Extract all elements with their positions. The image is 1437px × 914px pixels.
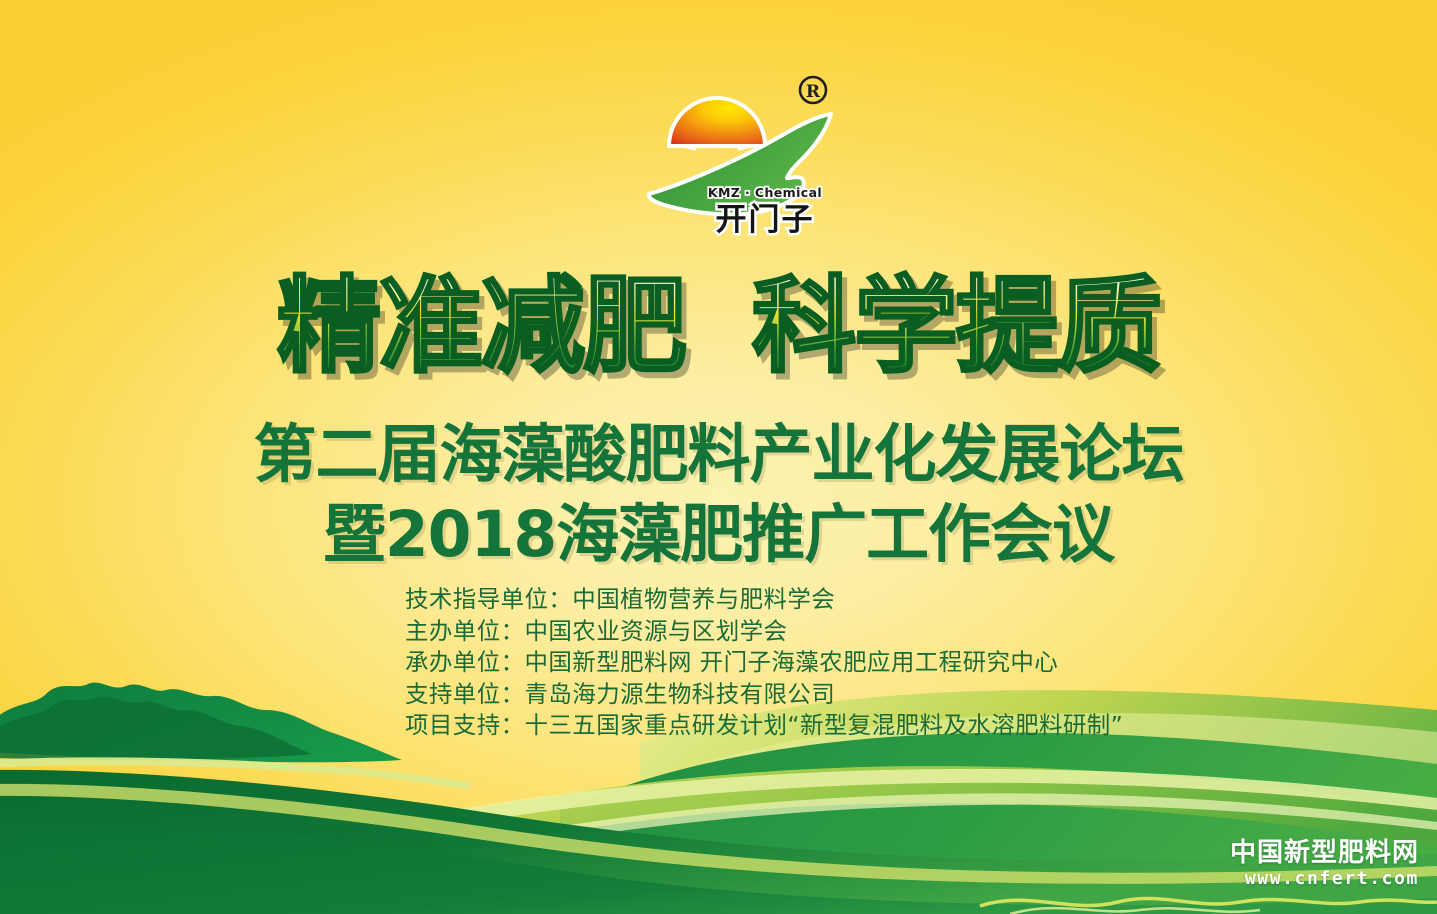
organizer-info-block: 技术指导单位：中国植物营养与肥料学会 主办单位：中国农业资源与区划学会 承办单位…: [405, 584, 1123, 742]
watermark-url: www.cnfert.com: [1230, 868, 1419, 891]
subtitle-line-2: 暨2018海藻肥推广工作会议: [0, 484, 1437, 575]
site-watermark: 中国新型肥料网 www.cnfert.com: [1230, 839, 1419, 890]
subtitle-line-1: 第二届海藻酸肥料产业化发展论坛: [0, 404, 1437, 495]
info-line-technical-guidance: 技术指导单位：中国植物营养与肥料学会: [405, 584, 1123, 616]
info-line-organizer: 承办单位：中国新型肥料网 开门子海藻农肥应用工程研究中心: [405, 647, 1123, 679]
info-line-supporter: 支持单位：青岛海力源生物科技有限公司: [405, 679, 1123, 711]
registered-trademark-icon: R: [800, 77, 826, 103]
conference-poster: R KMZ · Chemical 开门子 精准减肥 科学提质 第二届海藻酸肥料产…: [0, 0, 1437, 914]
watermark-site-name: 中国新型肥料网: [1230, 839, 1419, 868]
logo-brand-en: KMZ · Chemical: [708, 185, 822, 200]
sun-dome-icon: [669, 98, 765, 146]
logo-brand-cn: 开门子: [716, 202, 815, 238]
svg-text:R: R: [806, 82, 821, 102]
kmz-brand-logo: R KMZ · Chemical 开门子: [631, 66, 843, 246]
info-line-project-support: 项目支持：十三五国家重点研发计划“新型复混肥料及水溶肥料研制”: [405, 710, 1123, 742]
info-line-host: 主办单位：中国农业资源与区划学会: [405, 616, 1123, 648]
